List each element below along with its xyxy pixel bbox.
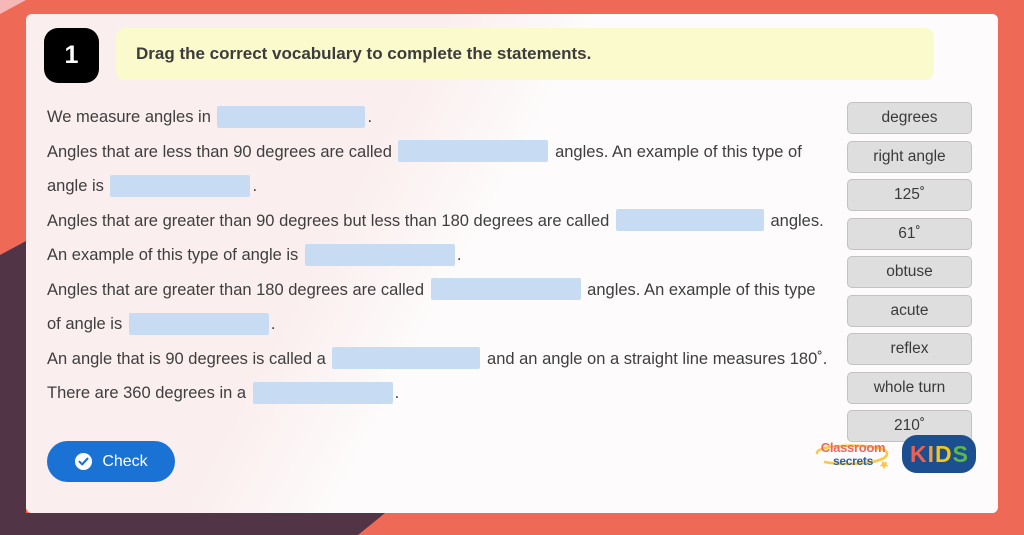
card-footer: Check Classroom secrets KIDS bbox=[26, 427, 998, 513]
activity-card: 1 Drag the correct vocabulary to complet… bbox=[26, 14, 998, 513]
word-chip-whole-turn[interactable]: whole turn bbox=[847, 372, 972, 404]
statement-4: Angles that are greater than 180 degrees… bbox=[47, 273, 833, 342]
word-chip-125[interactable]: 125˚ bbox=[847, 179, 972, 211]
check-button[interactable]: Check bbox=[47, 441, 175, 482]
logo-classroom-text: Classroom bbox=[821, 441, 886, 454]
kids-letter-i: I bbox=[928, 443, 934, 466]
word-chip-degrees[interactable]: degrees bbox=[847, 102, 972, 134]
logo-secrets-text: secrets bbox=[833, 455, 873, 468]
word-chip-right-angle[interactable]: right angle bbox=[847, 141, 972, 173]
statement-text: An angle that is 90 degrees is called a bbox=[47, 350, 330, 368]
classroom-secrets-logo: Classroom secrets bbox=[813, 437, 893, 471]
drop-zone-4-1[interactable] bbox=[431, 278, 581, 300]
kids-letter-k: K bbox=[910, 443, 927, 466]
statement-text: . bbox=[271, 315, 276, 333]
check-button-label: Check bbox=[102, 453, 147, 471]
statement-text: . bbox=[395, 384, 400, 402]
word-chip-reflex[interactable]: reflex bbox=[847, 333, 972, 365]
drop-zone-2-2[interactable] bbox=[110, 175, 250, 197]
word-chip-obtuse[interactable]: obtuse bbox=[847, 256, 972, 288]
statement-3: Angles that are greater than 90 degrees … bbox=[47, 204, 833, 273]
statement-1: We measure angles in . bbox=[47, 100, 833, 135]
activity-body: We measure angles in .Angles that are le… bbox=[26, 83, 998, 442]
drop-zone-4-2[interactable] bbox=[129, 313, 269, 335]
statement-text: . bbox=[457, 246, 462, 264]
statement-2: Angles that are less than 90 degrees are… bbox=[47, 135, 833, 204]
statement-text: Angles that are greater than 180 degrees… bbox=[47, 281, 429, 299]
drop-zone-2-1[interactable] bbox=[398, 140, 548, 162]
statement-5: An angle that is 90 degrees is called a … bbox=[47, 342, 833, 411]
word-chip-acute[interactable]: acute bbox=[847, 295, 972, 327]
branding-area: Classroom secrets KIDS bbox=[813, 435, 976, 473]
instruction-text: Drag the correct vocabulary to complete … bbox=[136, 44, 591, 64]
statement-text: Angles that are greater than 90 degrees … bbox=[47, 212, 614, 230]
check-circle-icon bbox=[74, 452, 93, 471]
instruction-banner: Drag the correct vocabulary to complete … bbox=[116, 28, 934, 80]
drop-zone-1-1[interactable] bbox=[217, 106, 365, 128]
word-chip-61[interactable]: 61˚ bbox=[847, 218, 972, 250]
statement-text: . bbox=[367, 108, 372, 126]
kids-letter-d: D bbox=[935, 443, 952, 466]
statement-text: . bbox=[252, 177, 257, 195]
drop-zone-3-1[interactable] bbox=[616, 209, 764, 231]
statements-list: We measure angles in .Angles that are le… bbox=[47, 100, 833, 442]
statement-text: We measure angles in bbox=[47, 108, 215, 126]
question-header: 1 Drag the correct vocabulary to complet… bbox=[26, 14, 998, 83]
word-bank: degreesright angle125˚61˚obtuseacuterefl… bbox=[847, 100, 972, 442]
drop-zone-3-2[interactable] bbox=[305, 244, 455, 266]
kids-logo: KIDS bbox=[902, 435, 976, 473]
statement-text: Angles that are less than 90 degrees are… bbox=[47, 143, 396, 161]
drop-zone-5-2[interactable] bbox=[253, 382, 393, 404]
drop-zone-5-1[interactable] bbox=[332, 347, 480, 369]
page-frame: 1 Drag the correct vocabulary to complet… bbox=[0, 0, 1024, 535]
question-number-badge: 1 bbox=[44, 28, 99, 83]
kids-letter-s: S bbox=[953, 443, 968, 466]
